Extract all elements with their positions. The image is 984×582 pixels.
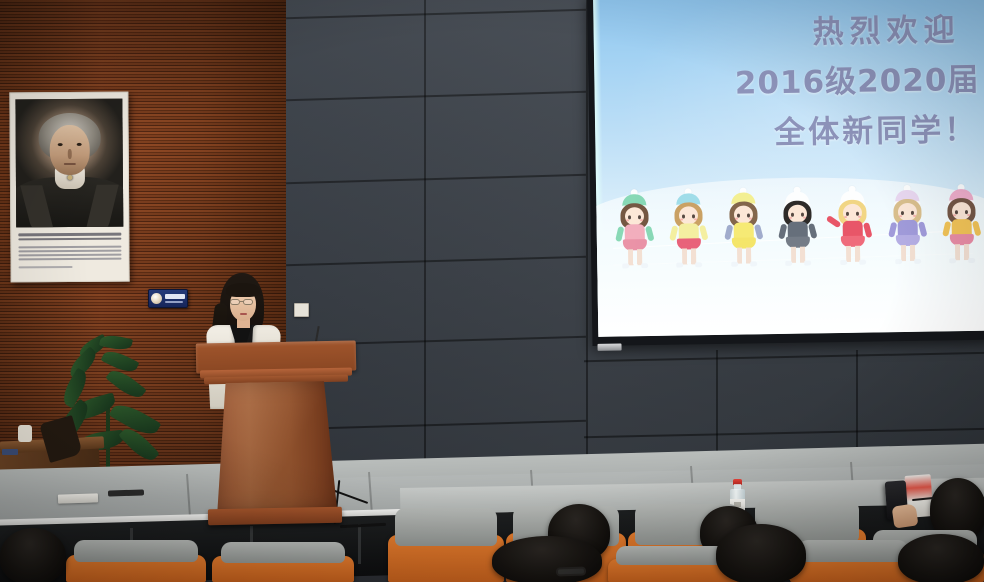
portrait-pin <box>67 175 72 180</box>
projector-screen: 热烈欢迎 2016级2020届 全体新同学！ <box>593 0 984 337</box>
slide-line-1: 热烈欢迎 <box>812 4 979 52</box>
cartoon-girl <box>775 184 821 307</box>
cartoon-girl <box>885 182 931 305</box>
projector-screen-frame: 热烈欢迎 2016级2020届 全体新同学！ <box>587 0 984 346</box>
no-smoking-icon <box>151 293 162 304</box>
wooden-podium <box>196 342 356 534</box>
glasses-bridge <box>240 301 244 302</box>
glasses-icon <box>243 299 253 305</box>
white-object-on-table <box>18 425 32 442</box>
poster-caption-block <box>16 230 123 278</box>
presenter-fringe <box>226 283 260 297</box>
cartoon-girl <box>830 183 876 306</box>
goethe-portrait-image: Johann Wolfgang von Goethe <box>15 99 123 228</box>
presenter-mouth <box>240 313 247 315</box>
auditorium-photo: Johann Wolfgang von Goethe 禁止吸烟 NO SMOKI… <box>0 0 984 582</box>
paper-on-stage <box>58 493 98 503</box>
glasses-icon <box>556 566 586 576</box>
portrait-subject-name: Johann Wolfgang von Goethe <box>15 99 16 100</box>
audience-head <box>898 534 984 582</box>
glasses-icon <box>230 299 240 305</box>
dark-object-on-stage <box>108 489 144 496</box>
audience-head <box>492 536 602 582</box>
slide-welcome-text: 热烈欢迎 2016级2020届 全体新同学！ <box>708 4 980 153</box>
cartoon-girl <box>939 182 984 305</box>
cartoon-girl <box>666 186 712 309</box>
audience-head <box>0 528 66 582</box>
goethe-portrait-poster: Johann Wolfgang von Goethe <box>9 92 129 283</box>
blue-object-on-table <box>2 449 18 455</box>
slide-line-2: 2016级2020届 <box>734 54 979 103</box>
screen-mount-bracket <box>597 344 621 351</box>
podium-body <box>215 381 337 513</box>
podium-base <box>208 507 342 526</box>
auditorium-seat[interactable] <box>388 508 504 582</box>
slide-line-3: 全体新同学！ <box>774 104 981 152</box>
no-smoking-sign: 禁止吸烟 NO SMOKING <box>148 289 188 308</box>
auditorium-seat[interactable] <box>212 542 354 582</box>
slide-cartoon-characters <box>612 182 984 310</box>
cartoon-girl <box>612 187 658 310</box>
wall-plate-switch[interactable] <box>294 303 309 317</box>
audience-head <box>716 524 806 582</box>
portrait-face <box>49 125 89 175</box>
auditorium-seat[interactable] <box>66 540 206 582</box>
hand-holding-phone <box>892 503 919 528</box>
cartoon-girl <box>721 185 767 308</box>
